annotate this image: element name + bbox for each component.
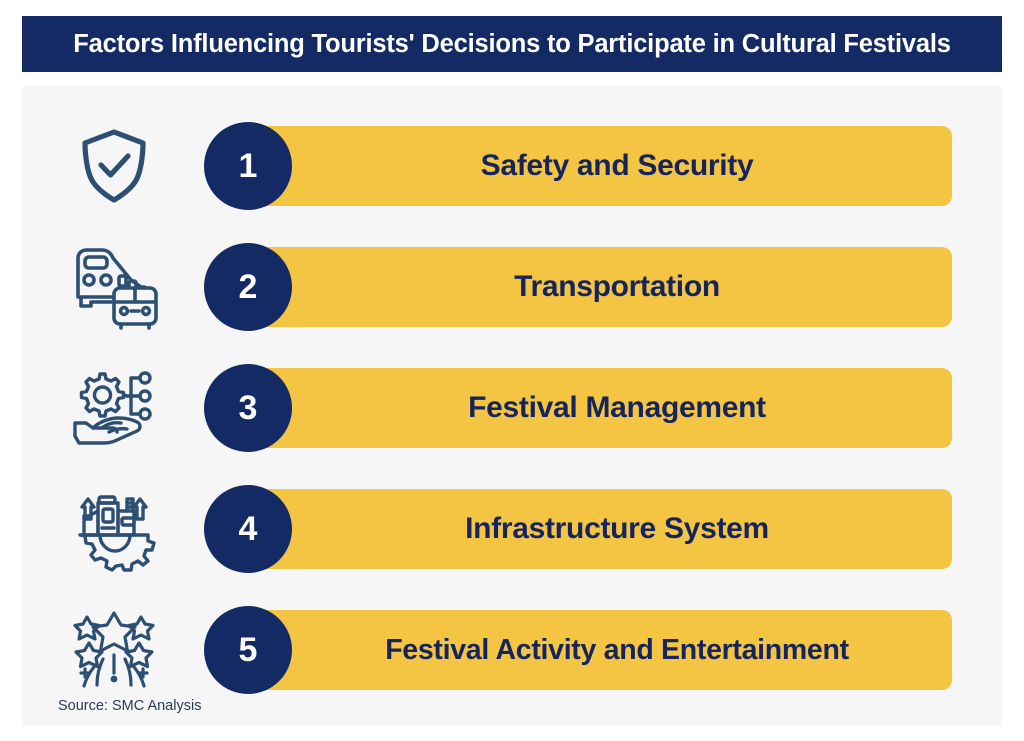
factor-bar[interactable]: Festival Management [224,368,952,448]
rank-number: 1 [239,149,258,183]
factor-label: Festival Activity and Entertainment [385,634,849,667]
factory-gear-arrows-icon [68,483,160,575]
fireworks-stars-icon [68,604,160,696]
rank-badge: 3 [204,364,292,452]
factor-label: Infrastructure System [465,512,769,546]
rank-number: 4 [239,512,258,546]
rank-badge: 1 [204,122,292,210]
hand-gear-network-icon [68,362,160,454]
list-item[interactable]: Infrastructure System 4 [22,485,1002,573]
rank-badge: 4 [204,485,292,573]
page-title: Factors Influencing Tourists' Decisions … [73,30,950,59]
rank-number: 5 [239,633,258,667]
infographic-root: Factors Influencing Tourists' Decisions … [0,0,1024,741]
factor-label: Transportation [514,270,720,304]
source-note: Source: SMC Analysis [58,698,201,714]
content-panel: Safety and Security 1 [22,86,1002,726]
factor-bar[interactable]: Festival Activity and Entertainment [224,610,952,690]
shield-check-icon [68,120,160,212]
train-bus-icon [68,241,160,333]
factor-bar[interactable]: Infrastructure System [224,489,952,569]
header-banner: Factors Influencing Tourists' Decisions … [22,16,1002,72]
list-item[interactable]: Safety and Security 1 [22,122,1002,210]
factor-bar[interactable]: Transportation [224,247,952,327]
factor-bar[interactable]: Safety and Security [224,126,952,206]
list-item[interactable]: Transportation 2 [22,243,1002,331]
rank-number: 2 [239,270,258,304]
list-item[interactable]: Festival Management 3 [22,364,1002,452]
factor-label: Festival Management [468,391,766,425]
rank-badge: 5 [204,606,292,694]
rank-number: 3 [239,391,258,425]
factor-label: Safety and Security [481,149,754,183]
rank-badge: 2 [204,243,292,331]
list-item[interactable]: Festival Activity and Entertainment 5 [22,606,1002,694]
